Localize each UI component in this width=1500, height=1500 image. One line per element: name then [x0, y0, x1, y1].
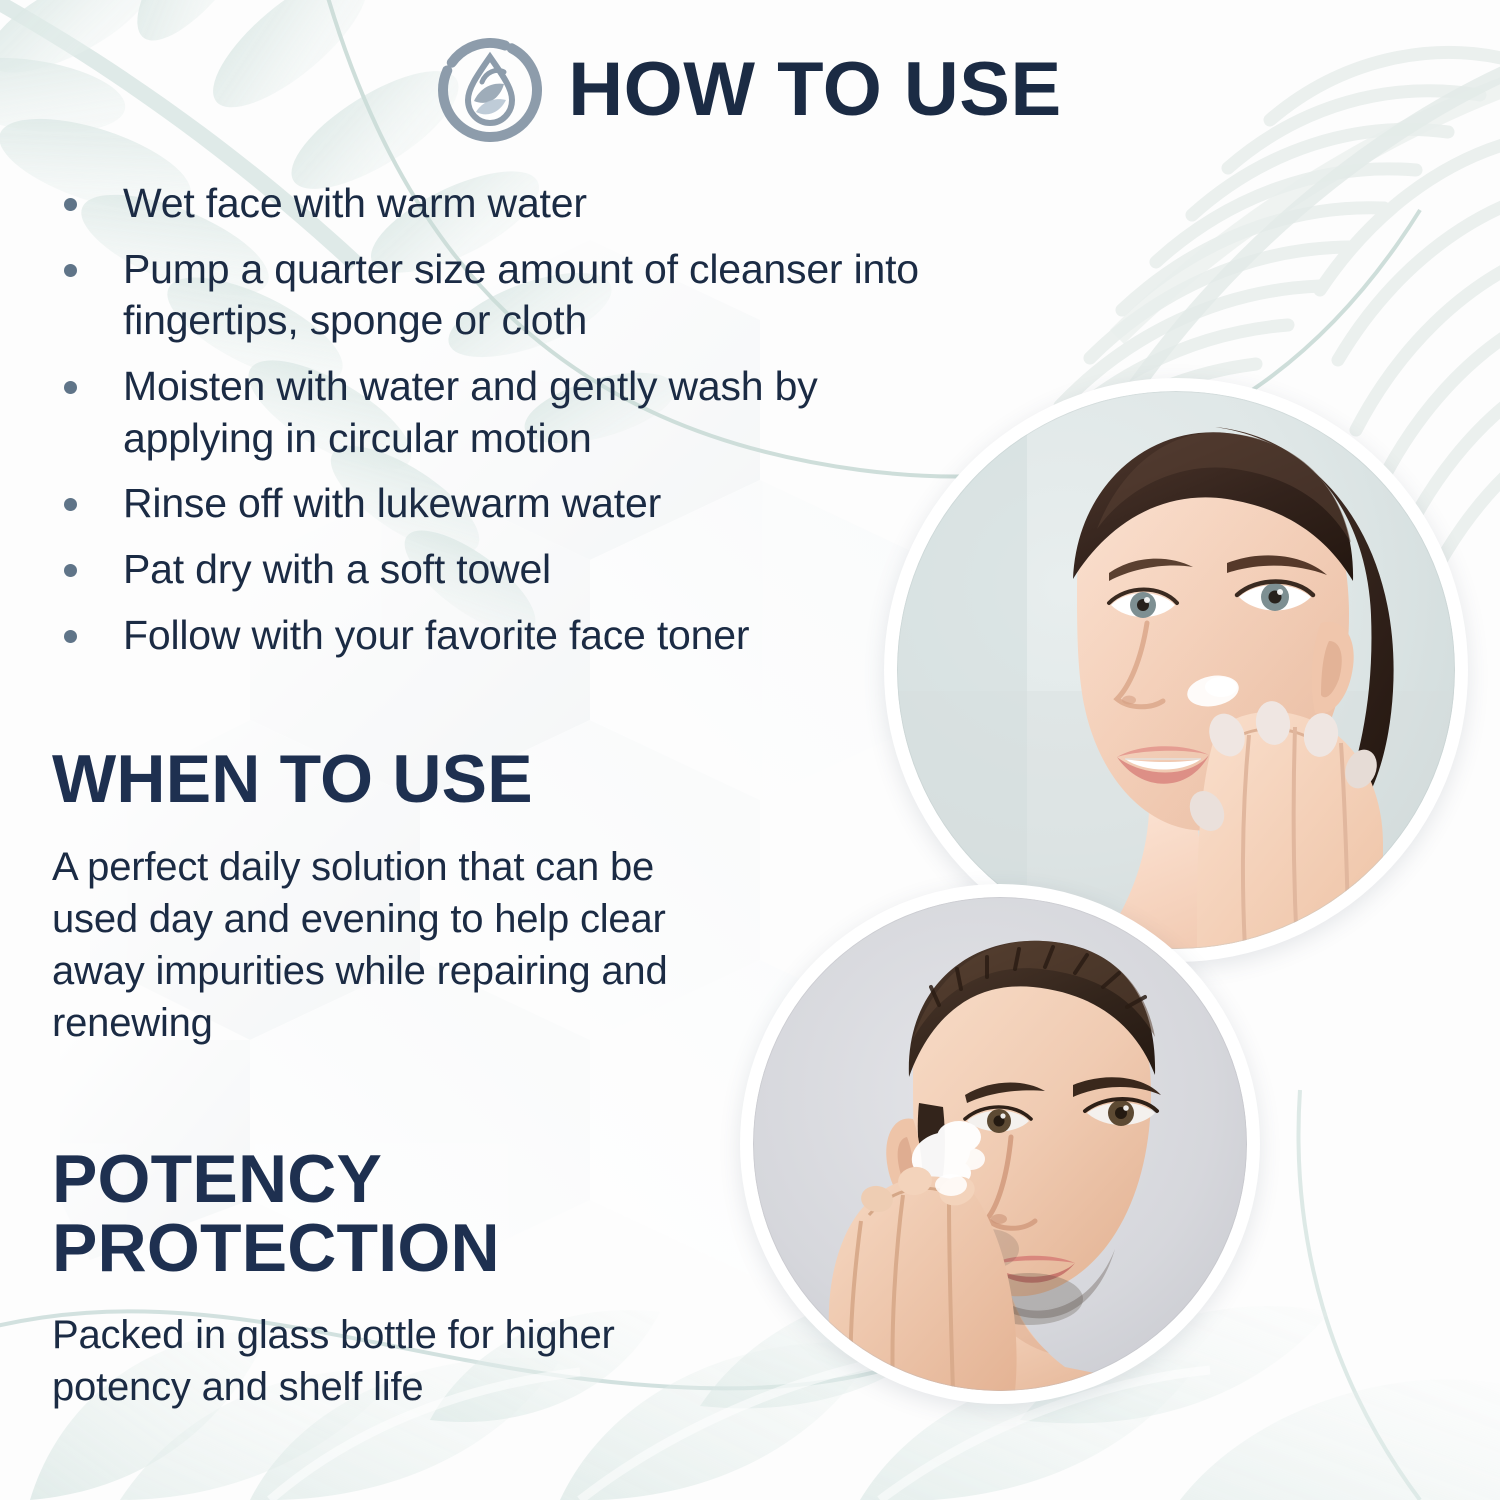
bullet-dot-icon — [64, 564, 77, 577]
step-label: Pat dry with a soft towel — [123, 544, 551, 596]
bullet-dot-icon — [64, 498, 77, 511]
page-title: HOW TO USE — [568, 52, 1061, 128]
list-item: Moisten with water and gently wash by ap… — [52, 361, 972, 464]
list-item: Pump a quarter size amount of cleanser i… — [52, 244, 972, 347]
photo-man-applying-cleanser — [740, 884, 1260, 1404]
usage-steps-list: Wet face with warm water Pump a quarter … — [52, 178, 972, 661]
step-label: Follow with your favorite face toner — [123, 610, 749, 662]
step-label: Rinse off with lukewarm water — [123, 478, 661, 530]
bullet-dot-icon — [64, 264, 77, 277]
list-item: Wet face with warm water — [52, 178, 972, 230]
bullet-dot-icon — [64, 381, 77, 394]
step-label: Moisten with water and gently wash by ap… — [123, 361, 972, 464]
bullet-dot-icon — [64, 198, 77, 211]
infographic-page: HOW TO USE Wet face with warm water Pump… — [0, 0, 1500, 1500]
step-label: Wet face with warm water — [123, 178, 587, 230]
photo-woman-applying-cleanser — [884, 378, 1468, 962]
water-droplet-leaf-logo-icon — [438, 38, 542, 142]
section-heading: POTENCY PROTECTION — [52, 1145, 612, 1284]
photo-inner — [753, 897, 1247, 1391]
list-item: Rinse off with lukewarm water — [52, 478, 972, 530]
photo-inner — [897, 391, 1455, 949]
page-header: HOW TO USE — [0, 38, 1500, 142]
section-heading: WHEN TO USE — [52, 745, 972, 814]
list-item: Follow with your favorite face toner — [52, 610, 972, 662]
bullet-dot-icon — [64, 630, 77, 643]
section-body: Packed in glass bottle for higher potenc… — [52, 1309, 652, 1413]
step-label: Pump a quarter size amount of cleanser i… — [123, 244, 972, 347]
list-item: Pat dry with a soft towel — [52, 544, 972, 596]
accent-curve-right — [1299, 1090, 1421, 1500]
section-body: A perfect daily solution that can be use… — [52, 841, 692, 1049]
